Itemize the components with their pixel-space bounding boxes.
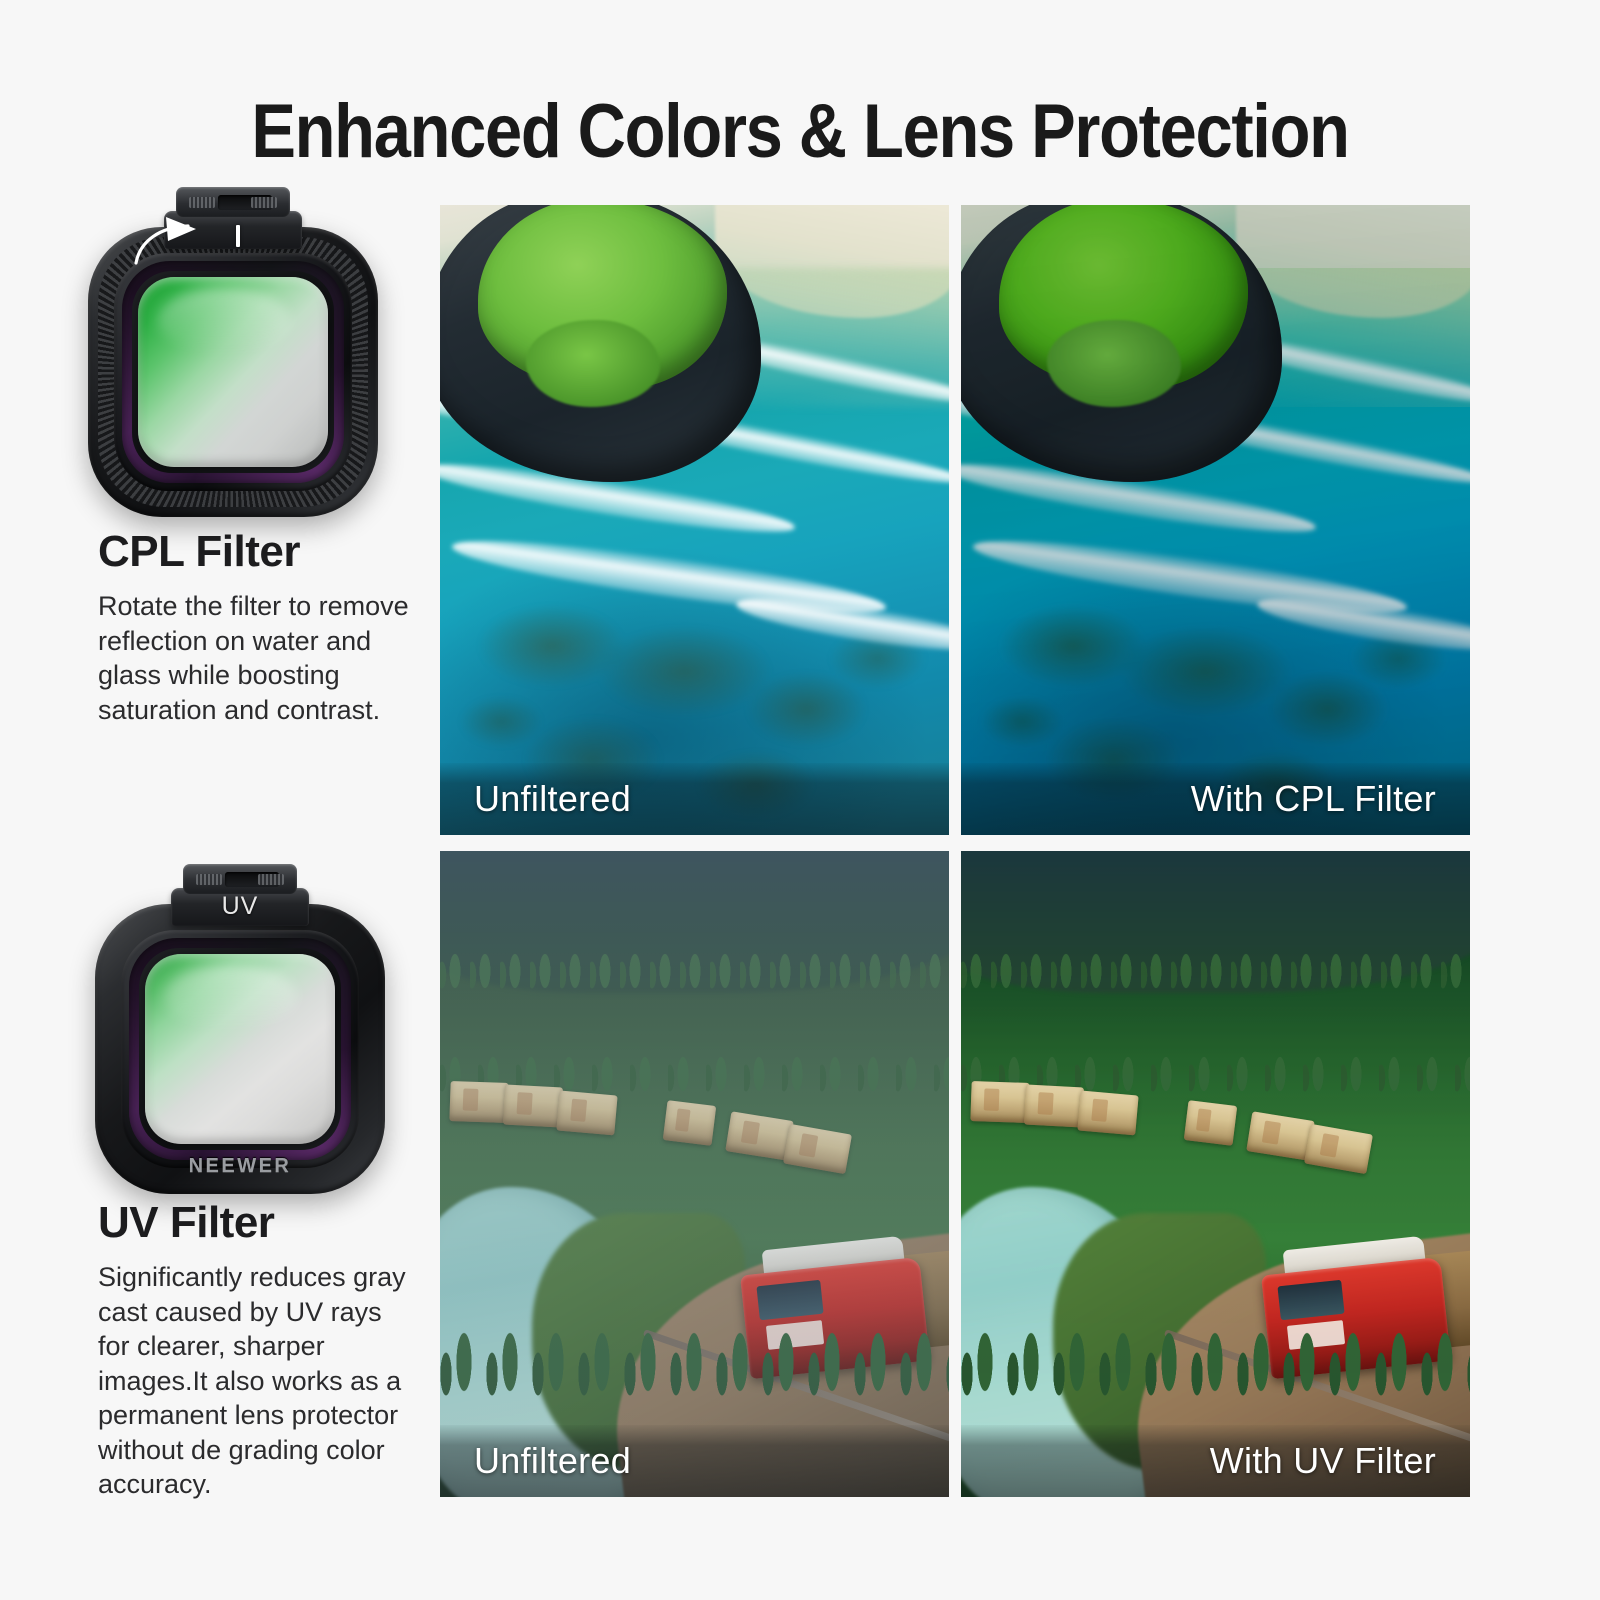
clamp-top <box>176 187 290 217</box>
mount-clamp: UV <box>171 862 309 926</box>
photo-caption: Unfiltered <box>440 1425 949 1497</box>
filter-body: NEEWER <box>95 904 385 1194</box>
clamp-grip-left <box>196 874 222 885</box>
clamp-grip-right <box>251 197 277 208</box>
glass-gloss-highlight <box>157 288 290 353</box>
cpl-filter-product-image <box>88 185 418 515</box>
clamp-top <box>183 864 297 894</box>
feature-block-uv: NEEWER UV UV Filter Significantly reduce… <box>0 862 440 1502</box>
coated-glass <box>138 277 328 467</box>
scene-aerial-coastline-unfiltered <box>440 205 949 835</box>
photo-uv-after: With UV Filter <box>961 851 1470 1497</box>
feature-block-cpl: CPL Filter Rotate the filter to remove r… <box>0 185 440 727</box>
photo-uv-before: Unfiltered <box>440 851 949 1497</box>
clamp-grip-right <box>258 874 284 885</box>
scene-mountain-railway-uv <box>961 851 1470 1497</box>
index-tick-icon <box>236 225 240 247</box>
photo-cpl-before: Unfiltered <box>440 205 949 835</box>
feature-title-uv: UV Filter <box>98 1198 420 1248</box>
scene-mountain-railway-unfiltered <box>440 851 949 1497</box>
feature-description-cpl: Rotate the filter to remove reflection o… <box>98 589 420 727</box>
uv-filter-product-image: NEEWER UV <box>95 862 405 1172</box>
photo-caption: Unfiltered <box>440 763 949 835</box>
brand-logo: NEEWER <box>95 1155 385 1178</box>
page-title: Enhanced Colors & Lens Protection <box>96 88 1504 175</box>
filter-type-badge: UV <box>171 892 309 921</box>
feature-title-cpl: CPL Filter <box>98 527 420 577</box>
clamp-grip-left <box>189 197 215 208</box>
glass-gloss-highlight <box>164 965 297 1030</box>
rotation-arrow-icon <box>126 215 246 271</box>
comparison-grid: Unfiltered With CPL Filter <box>440 205 1470 1497</box>
feature-description-uv: Significantly reduces gray cast caused b… <box>98 1260 420 1502</box>
scene-aerial-coastline-cpl <box>961 205 1470 835</box>
photo-caption: With UV Filter <box>961 1425 1470 1497</box>
photo-cpl-after: With CPL Filter <box>961 205 1470 835</box>
photo-caption: With CPL Filter <box>961 763 1470 835</box>
coated-glass <box>145 954 335 1144</box>
